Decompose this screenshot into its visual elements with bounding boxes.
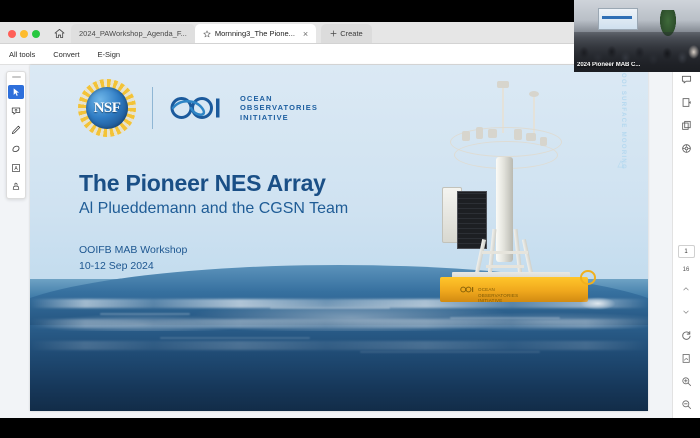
scroll-down-icon[interactable] <box>678 305 694 319</box>
buoy-instrument <box>488 129 497 138</box>
nsf-globe: NSF <box>86 87 128 129</box>
window-controls <box>0 30 47 43</box>
home-icon[interactable] <box>49 24 69 42</box>
sign-icon[interactable] <box>678 351 694 365</box>
zoom-out-icon[interactable] <box>678 397 694 411</box>
close-window-button[interactable] <box>8 30 16 38</box>
page-note-icon[interactable] <box>679 95 695 109</box>
slide-meta-block: OOIFB MAB Workshop 10-12 Sep 2024 <box>79 243 348 273</box>
comment-icon[interactable] <box>679 72 695 86</box>
rotate-icon[interactable] <box>678 328 694 342</box>
wave-streak <box>360 351 540 353</box>
nsf-logo-text: NSF <box>94 100 121 117</box>
slide-title-block: The Pioneer NES Array Al Plueddemann and… <box>79 171 348 274</box>
page-total-label: 16 <box>683 267 690 273</box>
foam-line-3 <box>30 341 648 350</box>
buoy-instrument <box>540 137 547 146</box>
zoom-in-icon[interactable] <box>678 374 694 388</box>
buoy-mast-left <box>502 85 504 133</box>
copy-pages-icon[interactable] <box>679 118 695 132</box>
acrobat-window: 2024_PAWorkshop_Agenda_F... Mornning3_Th… <box>0 22 700 418</box>
page-number-input[interactable]: 1 <box>678 245 695 258</box>
video-tile-label: 2024 Pioneer MAB C... <box>577 62 640 68</box>
ooi-word-line: INITIATIVE <box>240 113 318 122</box>
screen-capture: 2024_PAWorkshop_Agenda_F... Mornning3_Th… <box>0 0 700 438</box>
create-button-label: Create <box>340 29 363 38</box>
slide-meta-workshop: OOIFB MAB Workshop <box>79 243 348 258</box>
buoy-crossbar <box>482 251 528 254</box>
buoy-crossbar <box>486 265 524 268</box>
document-workarea: A <box>0 65 700 418</box>
draw-tool-icon[interactable] <box>8 123 24 137</box>
toolbar-drag-handle[interactable] <box>12 76 21 78</box>
tab-label: 2024_PAWorkshop_Agenda_F... <box>79 29 187 38</box>
buoy-tower <box>496 157 513 262</box>
buoy-hull-label: OCEAN OBSERVATORIES INITIATIVE <box>478 287 518 304</box>
wave-streak <box>100 313 190 315</box>
convert-button[interactable]: Convert <box>44 44 88 65</box>
slide-meta-date: 10-12 Sep 2024 <box>79 259 348 274</box>
ooi-logo: OCEAN OBSERVATORIES INITIATIVE <box>169 94 318 121</box>
text-box-tool-icon[interactable]: A <box>8 161 24 175</box>
comment-tool-icon[interactable] <box>8 104 24 118</box>
projector-screen-content <box>602 16 632 19</box>
all-tools-button[interactable]: All tools <box>0 44 44 65</box>
slide-logos: NSF <box>78 79 318 137</box>
plus-icon <box>330 30 337 37</box>
page-navigation-controls: 1 16 <box>672 245 700 411</box>
esign-button[interactable]: E-Sign <box>89 44 130 65</box>
video-participant-tile[interactable]: 2024 Pioneer MAB C... <box>574 0 700 72</box>
buoy-instrument <box>462 131 470 141</box>
buoy-sensor-top-left <box>497 81 509 88</box>
star-outline-icon[interactable] <box>203 30 211 38</box>
buoy-photo: OCEAN OBSERVATORIES INITIATIVE <box>430 79 615 329</box>
projector-screen <box>598 8 638 30</box>
slide-canvas: NSF <box>30 65 648 411</box>
close-tab-button[interactable]: × <box>303 29 308 39</box>
tab-pioneer-presentation[interactable]: Mornning3_The Pione... × <box>195 24 316 43</box>
slide-title: The Pioneer NES Array <box>79 171 348 196</box>
buoy-instrument <box>526 133 536 141</box>
vertical-watermark: OOI SURFACE MOORING <box>620 73 626 170</box>
slide-subtitle: Al Plueddemann and the CGSN Team <box>79 199 348 218</box>
select-tool-icon[interactable] <box>8 85 24 99</box>
buoy-ooi-mark-icon <box>460 286 476 293</box>
stamp-tool-icon[interactable] <box>8 180 24 194</box>
highlight-tool-icon[interactable] <box>8 142 24 156</box>
buoy-instrument <box>514 129 522 140</box>
scroll-up-icon[interactable] <box>678 282 694 296</box>
share-settings-icon[interactable] <box>679 141 695 155</box>
maximize-window-button[interactable] <box>32 30 40 38</box>
minimize-window-button[interactable] <box>20 30 28 38</box>
tab-agenda[interactable]: 2024_PAWorkshop_Agenda_F... <box>71 24 195 43</box>
ooi-wordmark: OCEAN OBSERVATORIES INITIATIVE <box>240 94 318 121</box>
pdf-page[interactable]: NSF <box>30 65 648 411</box>
ooi-mark-icon <box>169 95 231 121</box>
wave-streak <box>160 337 310 339</box>
water-splash <box>580 297 616 310</box>
ooi-word-line: OCEAN <box>240 94 318 103</box>
logo-divider <box>152 87 153 129</box>
wave-streak <box>270 307 390 309</box>
screenshare-letterbox-bottom <box>0 418 700 438</box>
buoy-label-line: INITIATIVE <box>478 298 518 304</box>
watermark-mark-icon <box>616 159 626 169</box>
buoy-lift-ring <box>580 270 596 285</box>
buoy-sensor-top-right <box>529 91 539 97</box>
ooi-word-line: OBSERVATORIES <box>240 103 318 112</box>
nsf-logo-icon: NSF <box>78 79 136 137</box>
tab-label: Mornning3_The Pione... <box>215 29 295 38</box>
create-button[interactable]: Create <box>321 24 372 43</box>
annotation-toolbar: A <box>6 71 26 199</box>
buoy-instrument <box>476 127 483 139</box>
